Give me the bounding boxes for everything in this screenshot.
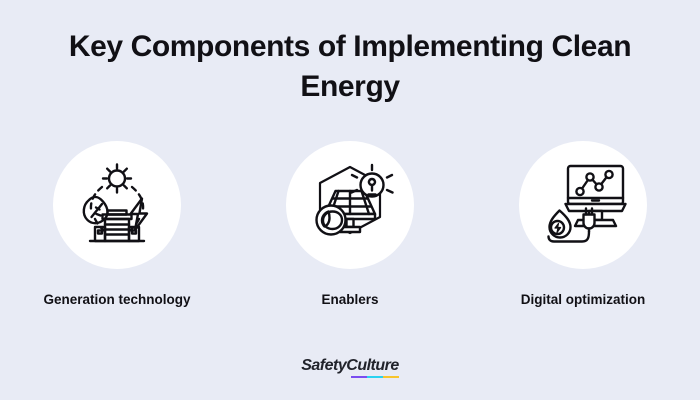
logo-underline-segment-1	[351, 376, 367, 379]
solar-panel-lightbulb-icon	[302, 157, 398, 253]
brand-logo: SafetyCulture	[0, 357, 700, 375]
component-label: Enablers	[321, 290, 378, 309]
component-card-generation-technology[interactable]: Generation technology	[1, 141, 234, 309]
logo-underline-segment-3	[383, 376, 399, 379]
component-label: Generation technology	[43, 290, 190, 309]
page-title: Key Components of Implementing Clean Ene…	[40, 27, 660, 106]
infographic-canvas: Key Components of Implementing Clean Ene…	[0, 0, 700, 400]
icon-circle	[519, 141, 647, 269]
logo-underline	[351, 376, 399, 379]
logo-text-safety: Safety	[301, 357, 346, 374]
icon-circle	[53, 141, 181, 269]
logo-text-culture: Culture	[346, 357, 399, 374]
logo-underline-segment-2	[367, 376, 383, 379]
solar-leaf-power-plant-icon	[69, 157, 165, 253]
icon-circle	[286, 141, 414, 269]
component-card-enablers[interactable]: Enablers	[234, 141, 467, 309]
component-label: Digital optimization	[521, 290, 646, 309]
component-card-digital-optimization[interactable]: Digital optimization	[467, 141, 700, 309]
components-row: Generation technology	[0, 141, 700, 309]
logo-wordmark: SafetyCulture	[301, 357, 399, 375]
monitor-chart-plug-icon	[535, 157, 631, 253]
